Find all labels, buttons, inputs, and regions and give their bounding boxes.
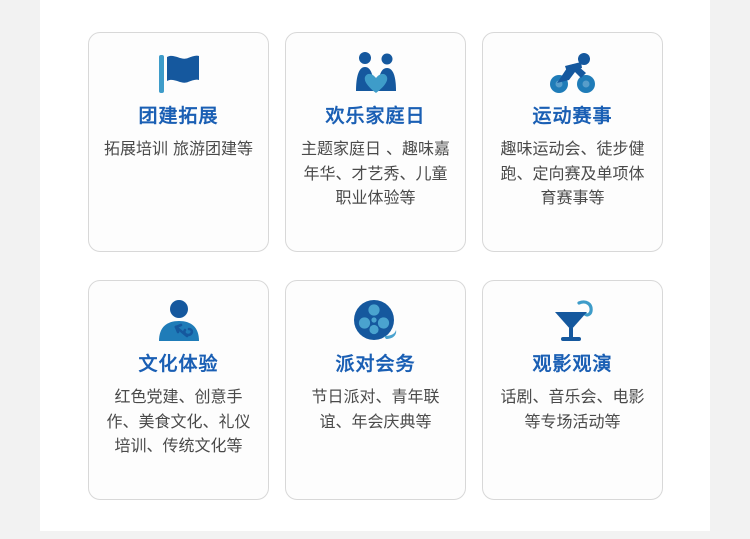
category-card-shows-screenings[interactable]: 观影观演 话剧、音乐会、电影等专场活动等 — [482, 280, 663, 500]
cyclist-icon — [545, 49, 601, 99]
party-member-icon — [151, 297, 207, 347]
card-title: 团建拓展 — [138, 105, 218, 129]
category-card-family-day[interactable]: 欢乐家庭日 主题家庭日 、趣味嘉年华、才艺秀、儿童职业体验等 — [285, 32, 466, 252]
category-card-grid: 团建拓展 拓展培训 旅游团建等 欢乐家庭日 主题家庭日 、趣味嘉年华、才艺秀、儿… — [88, 32, 678, 500]
card-description: 话剧、音乐会、电影等专场活动等 — [493, 385, 652, 435]
card-title: 观影观演 — [532, 353, 612, 377]
card-description: 节日派对、青年联谊、年会庆典等 — [296, 385, 455, 435]
card-description: 主题家庭日 、趣味嘉年华、才艺秀、儿童职业体验等 — [296, 137, 455, 211]
card-title: 文化体验 — [138, 353, 218, 377]
card-title: 运动赛事 — [532, 105, 612, 129]
card-description: 拓展培训 旅游团建等 — [102, 137, 255, 162]
page-root: 团建拓展 拓展培训 旅游团建等 欢乐家庭日 主题家庭日 、趣味嘉年华、才艺秀、儿… — [0, 0, 750, 539]
film-reel-icon — [348, 297, 404, 347]
cocktail-icon — [545, 297, 601, 347]
card-description: 红色党建、创意手作、美食文化、礼仪培训、传统文化等 — [99, 385, 258, 459]
category-card-team-building[interactable]: 团建拓展 拓展培训 旅游团建等 — [88, 32, 269, 252]
category-card-culture-experience[interactable]: 文化体验 红色党建、创意手作、美食文化、礼仪培训、传统文化等 — [88, 280, 269, 500]
content-panel: 团建拓展 拓展培训 旅游团建等 欢乐家庭日 主题家庭日 、趣味嘉年华、才艺秀、儿… — [40, 0, 710, 531]
category-card-sports-events[interactable]: 运动赛事 趣味运动会、徒步健跑、定向赛及单项体育赛事等 — [482, 32, 663, 252]
card-description: 趣味运动会、徒步健跑、定向赛及单项体育赛事等 — [493, 137, 652, 211]
family-icon — [348, 49, 404, 99]
card-title: 派对会务 — [335, 353, 415, 377]
card-title: 欢乐家庭日 — [325, 105, 425, 129]
category-card-party-events[interactable]: 派对会务 节日派对、青年联谊、年会庆典等 — [285, 280, 466, 500]
flag-icon — [151, 49, 207, 99]
